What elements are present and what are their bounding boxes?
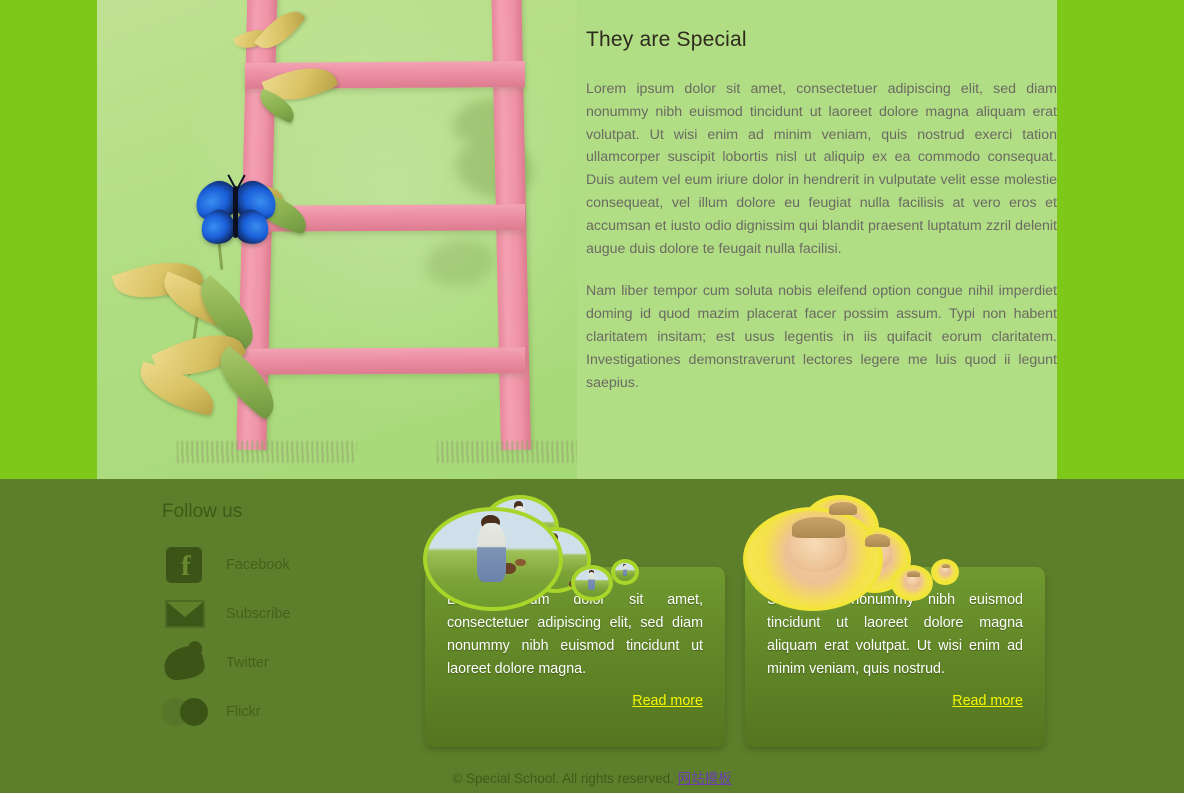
promo-card-right[interactable]: Sed diam nonummy nibh euismod tincidunt … — [745, 567, 1045, 747]
copyright: © Special School. All rights reserved. 网… — [0, 767, 1184, 787]
twitter-bird-icon — [162, 645, 206, 681]
follow-us-section: Follow us f Facebook Subscribe Twitter F… — [162, 501, 392, 739]
bubble-tail — [891, 565, 933, 601]
copyright-text: © Special School. All rights reserved. — [452, 771, 674, 786]
hero-illustration — [97, 0, 577, 479]
article-paragraph-2: Nam liber tempor cum soluta nobis eleife… — [586, 280, 1057, 394]
follow-us-title: Follow us — [162, 501, 392, 523]
bubble-tail — [571, 565, 613, 601]
social-label: Facebook — [226, 557, 290, 573]
social-label: Flickr — [226, 704, 261, 720]
footer: Follow us f Facebook Subscribe Twitter F… — [0, 479, 1184, 793]
social-label: Twitter — [226, 655, 269, 671]
bubble-photo-field — [423, 507, 563, 611]
bubble-photo-baby — [743, 507, 883, 611]
flickr-dots-icon — [162, 694, 206, 730]
article-paragraph-1: Lorem ipsum dolor sit amet, consectetuer… — [586, 78, 1057, 260]
social-link-flickr[interactable]: Flickr — [162, 690, 392, 733]
template-credit-link[interactable]: 网站模板 — [678, 771, 732, 786]
promo-card-left[interactable]: Lorem ipsum dolor sit amet, consectetuer… — [425, 567, 725, 747]
envelope-icon — [162, 596, 206, 632]
facebook-icon: f — [162, 547, 206, 583]
thought-bubble-right — [743, 499, 1043, 609]
thought-bubble-left — [423, 499, 723, 609]
social-link-twitter[interactable]: Twitter — [162, 641, 392, 684]
ladder-rung — [245, 347, 525, 374]
article: They are Special Lorem ipsum dolor sit a… — [586, 0, 1057, 479]
read-more-link[interactable]: Read more — [767, 693, 1023, 709]
read-more-link[interactable]: Read more — [447, 693, 703, 709]
butterfly-icon — [189, 180, 281, 252]
grass-tuft — [437, 441, 577, 463]
social-label: Subscribe — [226, 606, 290, 622]
bubble-tail — [611, 559, 639, 585]
social-link-facebook[interactable]: f Facebook — [162, 543, 392, 586]
social-link-subscribe[interactable]: Subscribe — [162, 592, 392, 635]
content-panel: They are Special Lorem ipsum dolor sit a… — [97, 0, 1057, 479]
bubble-tail — [931, 559, 959, 585]
page-title: They are Special — [586, 28, 1057, 52]
grass-tuft — [177, 441, 357, 463]
